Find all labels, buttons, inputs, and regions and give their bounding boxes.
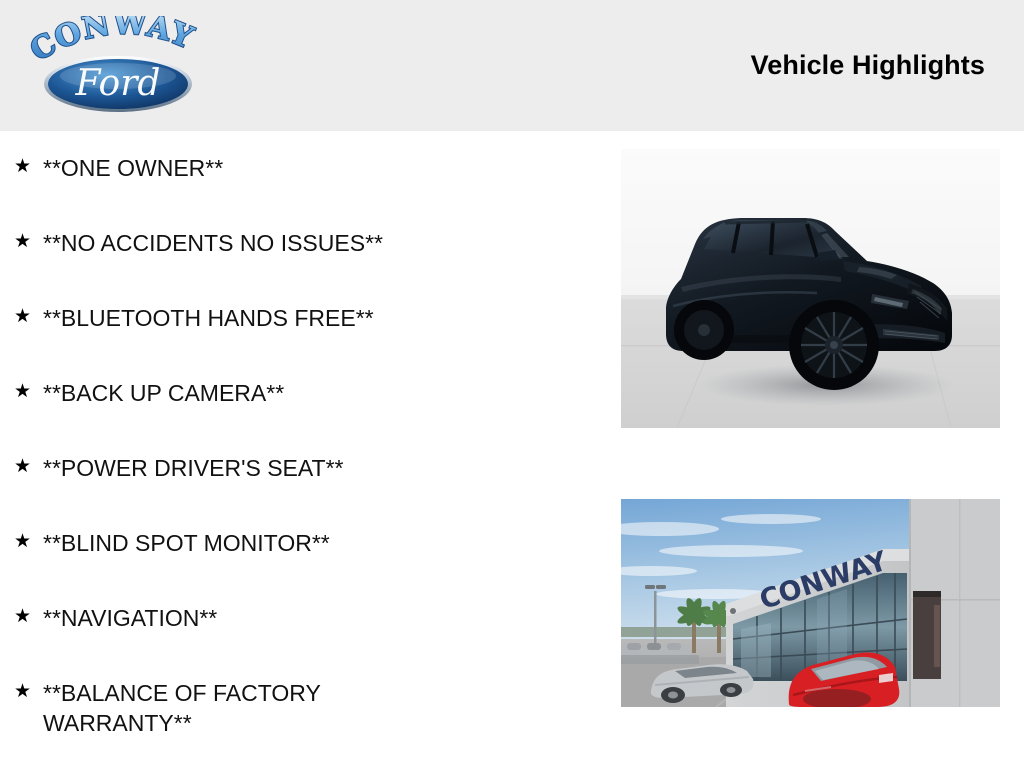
vehicle-highlights-list: ★ **ONE OWNER** ★ **NO ACCIDENTS NO ISSU… <box>0 131 610 768</box>
page-header: CONWAY CONWAY Ford Vehicle Highlights <box>0 0 1024 131</box>
list-item-label: **BLUETOOTH HANDS FREE** <box>43 303 574 333</box>
lot-vehicles <box>621 643 699 664</box>
star-icon: ★ <box>14 528 43 554</box>
star-icon: ★ <box>14 228 43 254</box>
list-item: ★ **NO ACCIDENTS NO ISSUES** <box>14 228 574 258</box>
list-item-label: **BACK UP CAMERA** <box>43 378 574 408</box>
list-item-label: **BALANCE OF FACTORY WARRANTY** <box>43 678 404 738</box>
list-item-label: **ONE OWNER** <box>43 153 574 183</box>
star-icon: ★ <box>14 378 43 404</box>
list-item-label: **NO ACCIDENTS NO ISSUES** <box>43 228 574 258</box>
logo-ford-oval: Ford <box>44 56 192 112</box>
list-item: ★ **BALANCE OF FACTORY WARRANTY** <box>14 678 404 738</box>
vehicle-photo[interactable] <box>621 149 1000 428</box>
star-icon: ★ <box>14 153 43 179</box>
list-item: ★ **POWER DRIVER'S SEAT** <box>14 453 574 483</box>
list-item-label: **NAVIGATION** <box>43 603 574 633</box>
list-item: ★ **ONE OWNER** <box>14 153 574 183</box>
list-item-label: **BLIND SPOT MONITOR** <box>43 528 574 558</box>
star-icon: ★ <box>14 453 43 479</box>
svg-text:Ford: Ford <box>75 63 161 104</box>
list-item: ★ **BLIND SPOT MONITOR** <box>14 528 574 558</box>
star-icon: ★ <box>14 303 43 329</box>
page-title: Vehicle Highlights <box>751 50 985 81</box>
conway-ford-logo: CONWAY CONWAY Ford <box>25 16 211 116</box>
list-item: ★ **BLUETOOTH HANDS FREE** <box>14 303 574 333</box>
dealership-photo[interactable]: CONWAY <box>621 499 1000 707</box>
list-item: ★ **NAVIGATION** <box>14 603 574 633</box>
list-item: ★ **BACK UP CAMERA** <box>14 378 574 408</box>
star-icon: ★ <box>14 678 43 704</box>
list-item-label: **POWER DRIVER'S SEAT** <box>43 453 574 483</box>
star-icon: ★ <box>14 603 43 629</box>
